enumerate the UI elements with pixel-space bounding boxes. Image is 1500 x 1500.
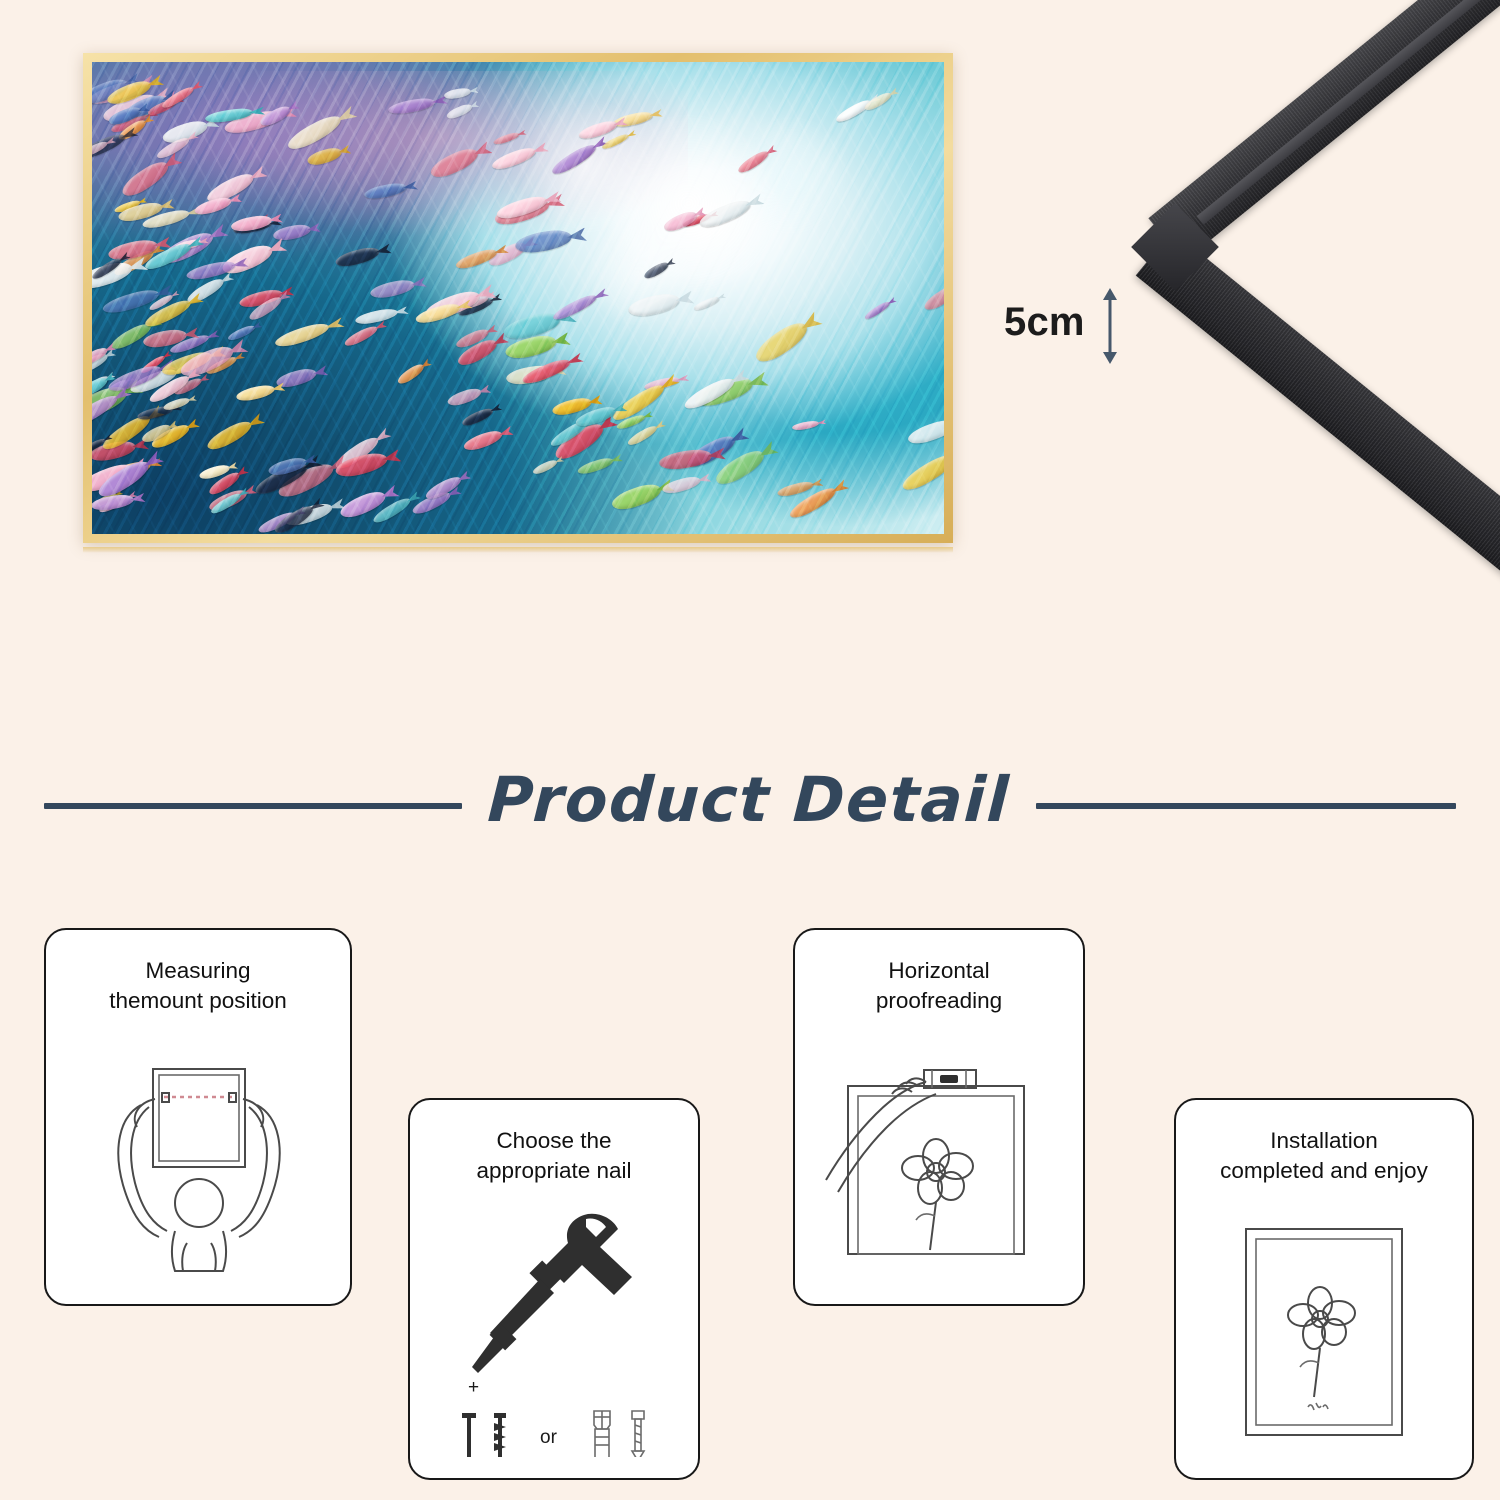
or-label: or <box>540 1427 558 1448</box>
framed-artwork <box>83 53 953 543</box>
step-caption: Installation completed and enjoy <box>1204 1100 1444 1186</box>
depth-label: 5cm <box>1004 300 1085 345</box>
flower-icon <box>1288 1287 1355 1397</box>
hand-with-spirit-level-on-frame-icon <box>814 1052 1064 1267</box>
screw-icon <box>632 1411 644 1457</box>
palette-knife-texture <box>92 62 944 534</box>
nail-icon-group <box>460 1413 509 1457</box>
step-caption: Measuring themount position <box>93 930 303 1016</box>
step-card-installation-complete: Installation completed and enjoy <box>1174 1098 1474 1480</box>
step-caption: Horizontal proofreading <box>860 930 1018 1016</box>
person-holding-frame-measuring-icon <box>83 1045 313 1275</box>
flower-icon <box>902 1139 973 1250</box>
page-title: Product Detail <box>487 769 1012 831</box>
step-illustration: + or <box>410 1186 698 1478</box>
vertical-double-arrow-icon <box>1099 287 1121 365</box>
heading-rule-right <box>1036 803 1456 809</box>
hammer-and-nails-icon: + or <box>436 1207 672 1457</box>
step-illustration <box>46 1016 350 1304</box>
hung-framed-flower-art-icon <box>1224 1217 1424 1447</box>
step-caption: Choose the appropriate nail <box>460 1100 647 1186</box>
hammer-icon <box>472 1214 632 1373</box>
step-illustration <box>1176 1186 1472 1478</box>
step-card-choose-nail: Choose the appropriate nail + <box>408 1098 700 1480</box>
artist-signature <box>1308 1403 1328 1410</box>
product-detail-heading: Product Detail <box>0 760 1500 852</box>
step-card-horizontal-proofreading: Horizontal proofreading <box>793 928 1085 1306</box>
artwork-canvas <box>92 62 944 534</box>
frame-arm-lower <box>1136 230 1500 590</box>
black-wood-frame-corner <box>1130 0 1500 608</box>
wall-anchor-icon <box>594 1411 610 1457</box>
step-illustration <box>795 1016 1083 1304</box>
heading-rule-left <box>44 803 462 809</box>
step-card-measuring: Measuring themount position <box>44 928 352 1306</box>
plus-sign: + <box>468 1377 479 1398</box>
